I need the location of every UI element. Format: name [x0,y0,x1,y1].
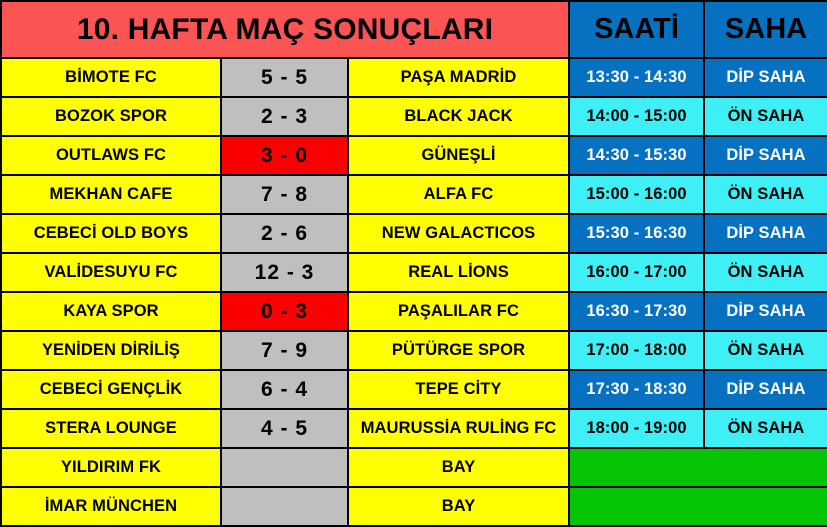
score-cell: 2 - 3 [221,97,348,136]
score-cell: 5 - 5 [221,58,348,97]
score-cell: 0 - 3 [221,292,348,331]
table-row: CEBECİ OLD BOYS2 - 6NEW GALACTICOS15:30 … [1,214,827,253]
match-results-table: 10. HAFTA MAÇ SONUÇLARI SAATİ SAHA BİMOT… [0,0,827,527]
score-cell [221,448,348,487]
away-team-cell: BLACK JACK [348,97,569,136]
table-row: YILDIRIM FKBAY [1,448,827,487]
home-team-cell: VALİDESUYU FC [1,253,221,292]
home-team-cell: MEKHAN CAFE [1,175,221,214]
table-row: VALİDESUYU FC12 - 3REAL LİONS16:00 - 17:… [1,253,827,292]
away-team-cell: TEPE CİTY [348,370,569,409]
match-field-cell: ÖN SAHA [704,253,827,292]
away-team-cell: PAŞA MADRİD [348,58,569,97]
away-team-cell: MAURUSSİA RULİNG FC [348,409,569,448]
table-row: BOZOK SPOR2 - 3BLACK JACK14:00 - 15:00ÖN… [1,97,827,136]
away-team-cell: BAY [348,487,569,526]
match-field-cell: ÖN SAHA [704,331,827,370]
match-field-cell: DİP SAHA [704,370,827,409]
match-field-cell: DİP SAHA [704,214,827,253]
bye-slot-cell [569,448,827,487]
match-time-cell: 17:30 - 18:30 [569,370,704,409]
table-row: YENİDEN DİRİLİŞ7 - 9PÜTÜRGE SPOR17:00 - … [1,331,827,370]
away-team-cell: GÜNEŞLİ [348,136,569,175]
home-team-cell: YILDIRIM FK [1,448,221,487]
home-team-cell: BOZOK SPOR [1,97,221,136]
match-field-cell: ÖN SAHA [704,175,827,214]
away-team-cell: REAL LİONS [348,253,569,292]
match-time-cell: 13:30 - 14:30 [569,58,704,97]
bye-slot-cell [569,487,827,526]
score-cell: 4 - 5 [221,409,348,448]
table-row: CEBECİ GENÇLİK6 - 4TEPE CİTY17:30 - 18:3… [1,370,827,409]
table-row: STERA LOUNGE4 - 5MAURUSSİA RULİNG FC18:0… [1,409,827,448]
away-team-cell: ALFA FC [348,175,569,214]
match-time-cell: 15:30 - 16:30 [569,214,704,253]
away-team-cell: BAY [348,448,569,487]
away-team-cell: NEW GALACTICOS [348,214,569,253]
match-field-cell: DİP SAHA [704,58,827,97]
table-header-row: 10. HAFTA MAÇ SONUÇLARI SAATİ SAHA [1,1,827,58]
table-row: İMAR MÜNCHENBAY [1,487,827,526]
table-row: MEKHAN CAFE7 - 8ALFA FC15:00 - 16:00ÖN S… [1,175,827,214]
match-field-cell: DİP SAHA [704,136,827,175]
home-team-cell: KAYA SPOR [1,292,221,331]
home-team-cell: İMAR MÜNCHEN [1,487,221,526]
away-team-cell: PAŞALILAR FC [348,292,569,331]
match-time-cell: 17:00 - 18:00 [569,331,704,370]
match-time-cell: 16:30 - 17:30 [569,292,704,331]
match-field-cell: DİP SAHA [704,292,827,331]
column-header-field: SAHA [704,1,827,58]
away-team-cell: PÜTÜRGE SPOR [348,331,569,370]
score-cell [221,487,348,526]
column-header-time: SAATİ [569,1,704,58]
score-cell: 7 - 9 [221,331,348,370]
home-team-cell: YENİDEN DİRİLİŞ [1,331,221,370]
match-field-cell: ÖN SAHA [704,97,827,136]
home-team-cell: CEBECİ OLD BOYS [1,214,221,253]
table-row: KAYA SPOR0 - 3PAŞALILAR FC16:30 - 17:30D… [1,292,827,331]
match-time-cell: 14:00 - 15:00 [569,97,704,136]
match-time-cell: 16:00 - 17:00 [569,253,704,292]
score-cell: 7 - 8 [221,175,348,214]
match-field-cell: ÖN SAHA [704,409,827,448]
score-cell: 12 - 3 [221,253,348,292]
home-team-cell: OUTLAWS FC [1,136,221,175]
page-title: 10. HAFTA MAÇ SONUÇLARI [1,1,569,58]
match-time-cell: 18:00 - 19:00 [569,409,704,448]
table-row: BİMOTE FC5 - 5PAŞA MADRİD13:30 - 14:30Dİ… [1,58,827,97]
score-cell: 2 - 6 [221,214,348,253]
home-team-cell: STERA LOUNGE [1,409,221,448]
match-time-cell: 14:30 - 15:30 [569,136,704,175]
home-team-cell: CEBECİ GENÇLİK [1,370,221,409]
score-cell: 6 - 4 [221,370,348,409]
score-cell: 3 - 0 [221,136,348,175]
match-time-cell: 15:00 - 16:00 [569,175,704,214]
home-team-cell: BİMOTE FC [1,58,221,97]
table-row: OUTLAWS FC3 - 0GÜNEŞLİ14:30 - 15:30DİP S… [1,136,827,175]
